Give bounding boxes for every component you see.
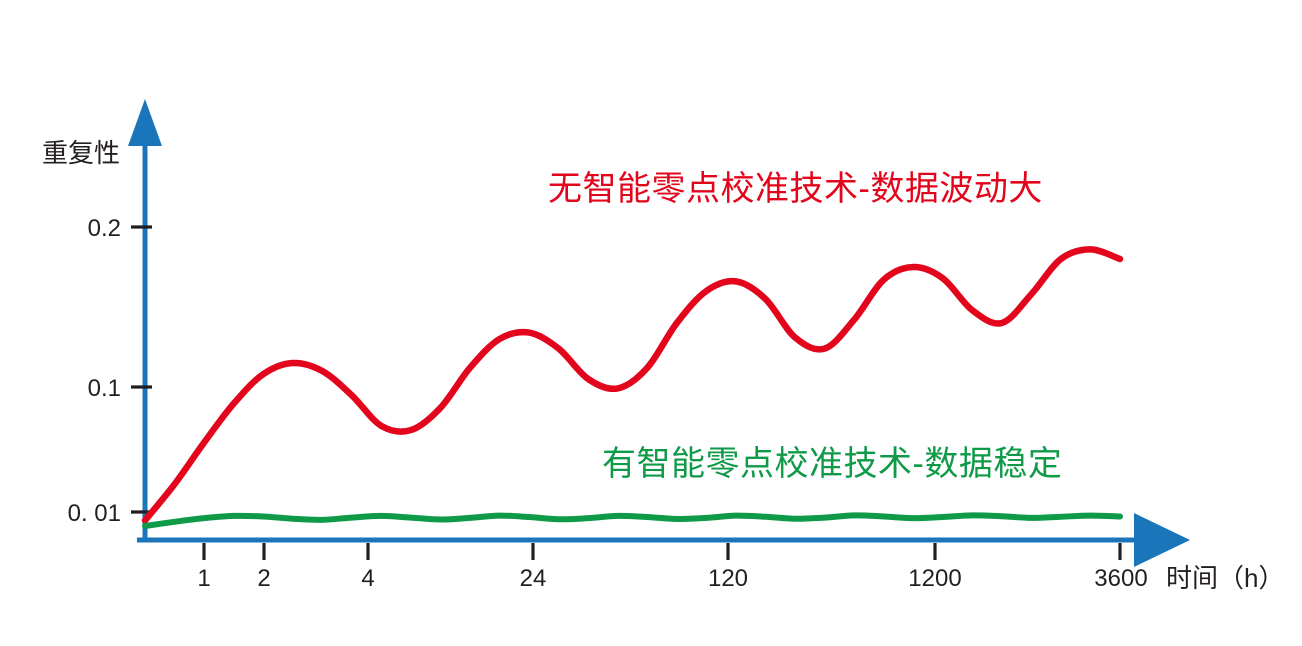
x-tick-label: 1 [197, 565, 210, 592]
x-tick-label: 24 [520, 565, 547, 592]
x-tick-label: 3600 [1094, 565, 1147, 592]
y-tick-label: 0.2 [88, 215, 121, 242]
repeatability-time-chart: 0.2 0.1 0. 01 重复性 1 2 4 24 120 1200 3600… [0, 0, 1302, 646]
y-tick-marks [131, 227, 152, 512]
x-axis-arrow-icon [1134, 513, 1190, 567]
x-tick-label: 1200 [908, 565, 961, 592]
x-tick-marks [204, 543, 1120, 560]
y-axis [128, 99, 162, 540]
y-axis-label: 重复性 [42, 138, 120, 168]
annotation-unstable: 无智能零点校准技术-数据波动大 [548, 170, 1043, 208]
x-axis-label: 时间（h） [1166, 563, 1284, 593]
x-tick-label: 120 [708, 565, 748, 592]
annotation-stable: 有智能零点校准技术-数据稳定 [602, 445, 1062, 483]
y-tick-label: 0. 01 [68, 500, 121, 527]
chart-canvas: 0.2 0.1 0. 01 重复性 1 2 4 24 120 1200 3600… [0, 0, 1302, 646]
y-tick-label: 0.1 [88, 375, 121, 402]
series-line-stable [145, 515, 1120, 526]
x-tick-label: 2 [257, 565, 270, 592]
y-axis-arrow-icon [128, 99, 162, 146]
x-tick-label: 4 [361, 565, 374, 592]
